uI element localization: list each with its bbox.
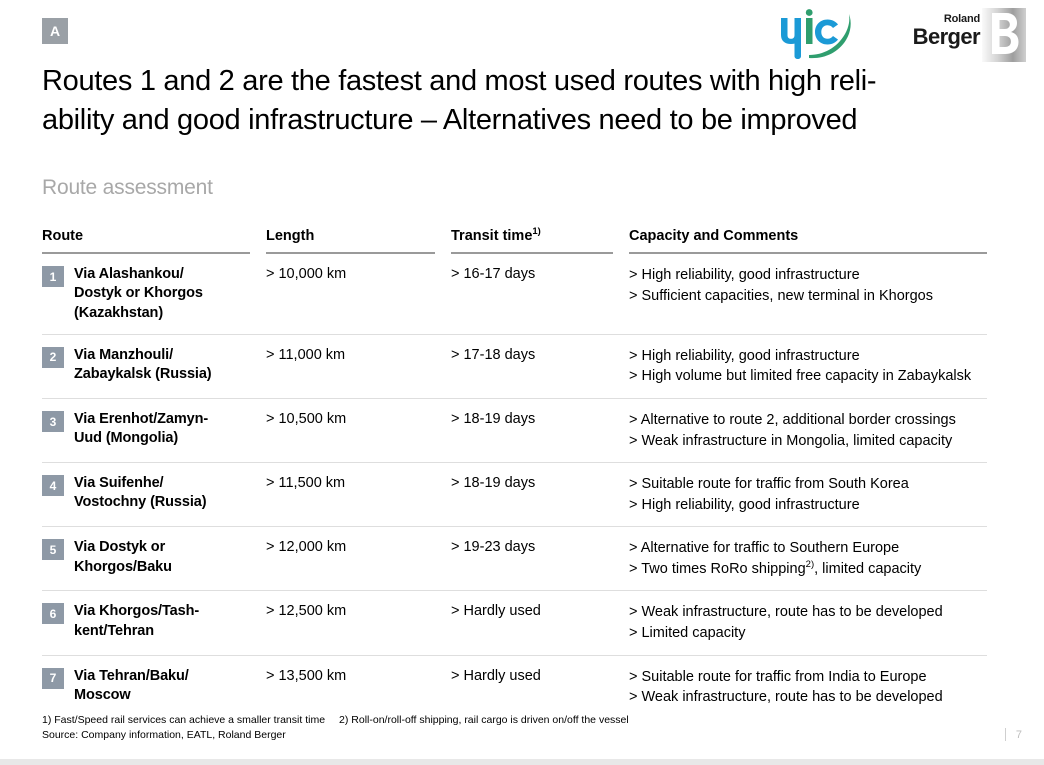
- uic-logo: [775, 8, 887, 60]
- table-row: 5 Via Dostyk or Khorgos/Baku > 12,000 km…: [42, 527, 987, 591]
- route-name-line: Dostyk or Khorgos: [74, 284, 203, 303]
- route-name-line: Moscow: [74, 686, 189, 705]
- cell-capacity-comments: > Weak infrastructure, route has to be d…: [629, 602, 987, 643]
- cell-transit-time: > Hardly used: [451, 602, 629, 643]
- route-number-badge: 6: [42, 603, 64, 624]
- capacity-comment-line: > Weak infrastructure, route has to be d…: [629, 602, 987, 623]
- cell-transit-time: > 18-19 days: [451, 410, 629, 451]
- footnotes: 1) Fast/Speed rail services can achieve …: [42, 713, 629, 743]
- cell-capacity-comments: > Alternative to route 2, additional bor…: [629, 410, 987, 451]
- footnote-marker-1: 1): [532, 226, 540, 237]
- footnote-marker-2: 2): [806, 559, 814, 570]
- cell-route: 5 Via Dostyk or Khorgos/Baku: [42, 538, 266, 579]
- page-title-line-1: Routes 1 and 2 are the fastest and most …: [42, 62, 1002, 101]
- page-title: Routes 1 and 2 are the fastest and most …: [42, 62, 1002, 139]
- capacity-comment-line: > Suitable route for traffic from India …: [629, 667, 987, 688]
- cell-transit-time: > Hardly used: [451, 667, 629, 708]
- route-name-line: Zabaykalsk (Russia): [74, 365, 212, 384]
- route-number-badge: 1: [42, 266, 64, 287]
- column-header-transit-time: Transit time1): [451, 228, 629, 254]
- logo-group: Roland Berger: [775, 8, 1026, 62]
- route-name: Via Khorgos/Tash- kent/Tehran: [74, 602, 199, 641]
- cell-route: 4 Via Suifenhe/ Vostochny (Russia): [42, 474, 266, 515]
- route-name-line: Uud (Mongolia): [74, 429, 208, 448]
- column-header-capacity-comments: Capacity and Comments: [629, 228, 987, 254]
- cell-capacity-comments: > High reliability, good infrastructure …: [629, 265, 987, 323]
- slide-section-badge: A: [42, 18, 68, 44]
- cell-capacity-comments: > High reliability, good infrastructure …: [629, 346, 987, 387]
- page-number: 7: [1005, 728, 1022, 741]
- table-row: 1 Via Alashankou/ Dostyk or Khorgos (Kaz…: [42, 254, 987, 335]
- table-row: 2 Via Manzhouli/ Zabaykalsk (Russia) > 1…: [42, 335, 987, 399]
- cell-length: > 12,000 km: [266, 538, 451, 579]
- route-number-badge: 3: [42, 411, 64, 432]
- capacity-comment-text: , limited capacity: [814, 561, 921, 577]
- cell-transit-time: > 17-18 days: [451, 346, 629, 387]
- route-name: Via Tehran/Baku/ Moscow: [74, 667, 189, 706]
- capacity-comment-line: > Two times RoRo shipping2), limited cap…: [629, 559, 987, 580]
- capacity-comment-line: > Sufficient capacities, new terminal in…: [629, 286, 987, 307]
- cell-route: 6 Via Khorgos/Tash- kent/Tehran: [42, 602, 266, 643]
- cell-route: 1 Via Alashankou/ Dostyk or Khorgos (Kaz…: [42, 265, 266, 323]
- route-name-line: Vostochny (Russia): [74, 493, 206, 512]
- page-title-line-2: ability and good infrastructure – Altern…: [42, 101, 1002, 140]
- cell-capacity-comments: > Suitable route for traffic from South …: [629, 474, 987, 515]
- capacity-comment-line: > Limited capacity: [629, 623, 987, 644]
- footnote-row: 1) Fast/Speed rail services can achieve …: [42, 713, 629, 728]
- cell-route: 2 Via Manzhouli/ Zabaykalsk (Russia): [42, 346, 266, 387]
- route-name: Via Manzhouli/ Zabaykalsk (Russia): [74, 346, 212, 385]
- cell-length: > 10,000 km: [266, 265, 451, 323]
- capacity-comment-line: > High volume but limited free capacity …: [629, 366, 987, 387]
- route-number-badge: 5: [42, 539, 64, 560]
- column-header-length: Length: [266, 228, 451, 254]
- cell-transit-time: > 19-23 days: [451, 538, 629, 579]
- route-number-badge: 4: [42, 475, 64, 496]
- page-number-value: 7: [1016, 729, 1022, 741]
- route-name-line: Via Khorgos/Tash-: [74, 602, 199, 621]
- route-name-line: Via Dostyk or: [74, 538, 172, 557]
- cell-length: > 12,500 km: [266, 602, 451, 643]
- cell-route: 7 Via Tehran/Baku/ Moscow: [42, 667, 266, 708]
- bottom-rule: [0, 759, 1044, 765]
- route-number-badge: 2: [42, 347, 64, 368]
- cell-length: > 13,500 km: [266, 667, 451, 708]
- capacity-comment-line: > Alternative to route 2, additional bor…: [629, 410, 987, 431]
- capacity-comment-line: > Weak infrastructure in Mongolia, limit…: [629, 431, 987, 452]
- page-number-divider: [1005, 728, 1006, 741]
- route-name-line: Via Tehran/Baku/: [74, 667, 189, 686]
- table-row: 7 Via Tehran/Baku/ Moscow > 13,500 km > …: [42, 656, 987, 719]
- route-name-line: (Kazakhstan): [74, 304, 203, 323]
- capacity-comment-text: > Two times RoRo shipping: [629, 561, 806, 577]
- source-line: Source: Company information, EATL, Rolan…: [42, 728, 629, 743]
- route-name: Via Suifenhe/ Vostochny (Russia): [74, 474, 206, 513]
- column-header-route: Route: [42, 228, 266, 254]
- table-row: 6 Via Khorgos/Tash- kent/Tehran > 12,500…: [42, 591, 987, 655]
- route-name: Via Dostyk or Khorgos/Baku: [74, 538, 172, 577]
- page-subtitle: Route assessment: [42, 176, 213, 200]
- footnote-2: 2) Roll-on/roll-off shipping, rail cargo…: [339, 713, 629, 728]
- roland-berger-logo: Roland Berger: [913, 8, 1026, 62]
- column-header-transit-time-text: Transit time: [451, 228, 532, 244]
- route-name-line: Via Erenhot/Zamyn-: [74, 410, 208, 429]
- berger-text: Berger: [913, 26, 980, 48]
- route-name-line: Via Suifenhe/: [74, 474, 206, 493]
- roland-berger-b-mark-icon: [982, 8, 1026, 62]
- route-name: Via Alashankou/ Dostyk or Khorgos (Kazak…: [74, 265, 203, 323]
- route-name-line: Via Manzhouli/: [74, 346, 212, 365]
- cell-length: > 11,000 km: [266, 346, 451, 387]
- cell-transit-time: > 18-19 days: [451, 474, 629, 515]
- route-name-line: Via Alashankou/: [74, 265, 203, 284]
- capacity-comment-line: > High reliability, good infrastructure: [629, 495, 987, 516]
- cell-route: 3 Via Erenhot/Zamyn- Uud (Mongolia): [42, 410, 266, 451]
- cell-length: > 11,500 km: [266, 474, 451, 515]
- cell-capacity-comments: > Alternative for traffic to Southern Eu…: [629, 538, 987, 579]
- route-name: Via Erenhot/Zamyn- Uud (Mongolia): [74, 410, 208, 449]
- route-name-line: kent/Tehran: [74, 622, 199, 641]
- capacity-comment-line: > Weak infrastructure, route has to be d…: [629, 687, 987, 708]
- capacity-comment-line: > High reliability, good infrastructure: [629, 346, 987, 367]
- table-row: 3 Via Erenhot/Zamyn- Uud (Mongolia) > 10…: [42, 399, 987, 463]
- cell-length: > 10,500 km: [266, 410, 451, 451]
- table-row: 4 Via Suifenhe/ Vostochny (Russia) > 11,…: [42, 463, 987, 527]
- route-assessment-table: Route Length Transit time1) Capacity and…: [42, 228, 987, 719]
- capacity-comment-line: > Suitable route for traffic from South …: [629, 474, 987, 495]
- route-number-badge: 7: [42, 668, 64, 689]
- table-header-row: Route Length Transit time1) Capacity and…: [42, 228, 987, 254]
- cell-capacity-comments: > Suitable route for traffic from India …: [629, 667, 987, 708]
- capacity-comment-line: > High reliability, good infrastructure: [629, 265, 987, 286]
- capacity-comment-line: > Alternative for traffic to Southern Eu…: [629, 538, 987, 559]
- cell-transit-time: > 16-17 days: [451, 265, 629, 323]
- route-name-line: Khorgos/Baku: [74, 558, 172, 577]
- roland-berger-wordmark: Roland Berger: [913, 8, 980, 48]
- footnote-1: 1) Fast/Speed rail services can achieve …: [42, 713, 325, 728]
